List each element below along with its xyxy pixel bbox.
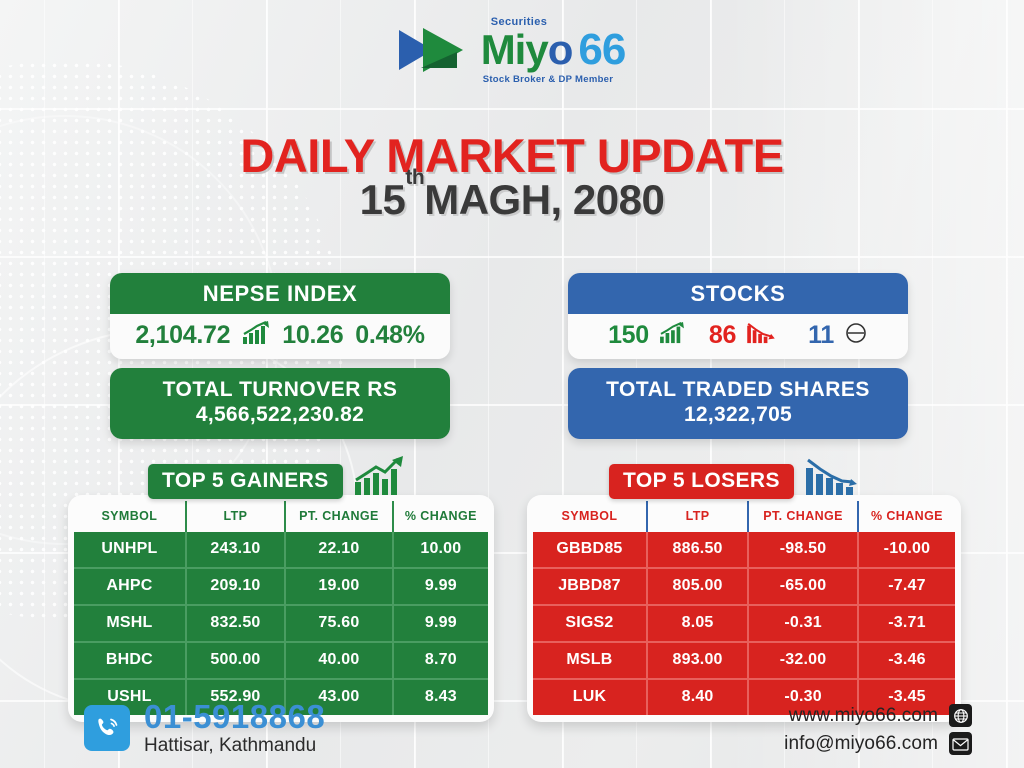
cell-pct-change: -10.00 (858, 532, 955, 568)
chart-down-icon (746, 322, 776, 349)
page-subtitle-date: 15thMAGH, 2080 (0, 176, 1024, 224)
stocks-heading: STOCKS (568, 273, 908, 314)
website-url[interactable]: www.miyo66.com (789, 705, 938, 727)
cell-symbol: MSLB (533, 642, 647, 679)
cell-pct-change: 8.70 (393, 642, 488, 679)
total-traded-shares-card: TOTAL TRADED SHARES 12,322,705 (568, 368, 908, 439)
cell-pt-change: 40.00 (285, 642, 393, 679)
nepse-index-values: 2,104.72 10.26 0.48% (110, 314, 450, 359)
cell-symbol: JBBD87 (533, 568, 647, 605)
cell-symbol: AHPC (74, 568, 186, 605)
cell-ltp: 209.10 (186, 568, 285, 605)
date-day: 15 (360, 176, 406, 223)
website-row[interactable]: www.miyo66.com (789, 704, 972, 727)
cell-pt-change: 19.00 (285, 568, 393, 605)
top-gainers-table-card: SYMBOL LTP PT. CHANGE % CHANGE UNHPL 243… (68, 495, 494, 722)
cell-symbol: SIGS2 (533, 605, 647, 642)
logo-o-text: o (548, 29, 573, 71)
stocks-values: 150 86 (568, 314, 908, 359)
page-title: DAILY MARKET UPDATE (0, 128, 1024, 183)
cell-pt-change: -0.31 (748, 605, 858, 642)
column-header-pct-change: % CHANGE (393, 501, 488, 532)
phone-number[interactable]: 01-5918868 (144, 700, 325, 733)
top-losers-banner: TOP 5 LOSERS (609, 464, 794, 499)
table-row: BHDC 500.00 40.00 8.70 (74, 642, 488, 679)
table-header-row: SYMBOL LTP PT. CHANGE % CHANGE (533, 501, 955, 532)
cell-symbol: UNHPL (74, 532, 186, 568)
date-ordinal: th (405, 166, 424, 189)
cell-ltp: 8.05 (647, 605, 748, 642)
cell-ltp: 893.00 (647, 642, 748, 679)
chart-up-icon (659, 322, 685, 349)
cell-ltp: 500.00 (186, 642, 285, 679)
cell-pct-change: 9.99 (393, 568, 488, 605)
cell-pct-change: 9.99 (393, 605, 488, 642)
column-header-pt-change: PT. CHANGE (285, 501, 393, 532)
cell-ltp: 243.10 (186, 532, 285, 568)
poster-canvas: Securities Miyo66 Stock Broker & DP Memb… (0, 0, 1024, 768)
logo-tagline: Stock Broker & DP Member (483, 75, 614, 85)
top-losers-section: TOP 5 LOSERS SYMBOL L (527, 456, 961, 722)
cell-pct-change: 8.43 (393, 679, 488, 715)
top-losers-table: SYMBOL LTP PT. CHANGE % CHANGE GBBD85 88… (533, 501, 955, 715)
cell-ltp: 832.50 (186, 605, 285, 642)
cell-pt-change: 75.60 (285, 605, 393, 642)
nepse-index-value: 2,104.72 (135, 321, 230, 350)
logo-miyo-text: Miy (481, 29, 548, 71)
bar-chart-up-icon (353, 456, 405, 501)
nepse-index-heading: NEPSE INDEX (110, 273, 450, 314)
footer-contact: 01-5918868 Hattisar, Kathmandu (84, 700, 325, 755)
table-row: MSLB 893.00 -32.00 -3.46 (533, 642, 955, 679)
top-losers-banner-row: TOP 5 LOSERS (527, 456, 961, 499)
top-gainers-section: TOP 5 GAINERS SYMBOL (68, 456, 494, 722)
nepse-point-change: 10.26 (282, 321, 343, 350)
table-header-row: SYMBOL LTP PT. CHANGE % CHANGE (74, 501, 488, 532)
brand-logo: Securities Miyo66 Stock Broker & DP Memb… (0, 26, 1024, 74)
logo-mark-icon (399, 26, 473, 74)
table-row: SIGS2 8.05 -0.31 -3.71 (533, 605, 955, 642)
bar-chart-down-icon (804, 456, 858, 501)
cell-pct-change: -3.46 (858, 642, 955, 679)
table-row: JBBD87 805.00 -65.00 -7.47 (533, 568, 955, 605)
total-traded-shares-value: 12,322,705 (568, 403, 908, 427)
circle-dash-icon (844, 321, 868, 350)
logo-66-text: 66 (578, 28, 625, 72)
globe-icon (949, 704, 972, 727)
stocks-advanced-count: 150 (608, 321, 649, 350)
column-header-ltp: LTP (186, 501, 285, 532)
cell-pt-change: -98.50 (748, 532, 858, 568)
column-header-symbol: SYMBOL (74, 501, 186, 532)
column-header-pct-change: % CHANGE (858, 501, 955, 532)
cell-pct-change: 10.00 (393, 532, 488, 568)
column-header-ltp: LTP (647, 501, 748, 532)
top-gainers-banner-row: TOP 5 GAINERS (68, 456, 494, 499)
office-address: Hattisar, Kathmandu (144, 736, 325, 755)
cell-symbol: GBBD85 (533, 532, 647, 568)
table-row: UNHPL 243.10 22.10 10.00 (74, 532, 488, 568)
total-turnover-heading: TOTAL TURNOVER RS (110, 378, 450, 402)
table-row: AHPC 209.10 19.00 9.99 (74, 568, 488, 605)
total-traded-shares-heading: TOTAL TRADED SHARES (568, 378, 908, 402)
phone-ring-icon (84, 705, 130, 751)
top-gainers-table: SYMBOL LTP PT. CHANGE % CHANGE UNHPL 243… (74, 501, 488, 715)
table-row: GBBD85 886.50 -98.50 -10.00 (533, 532, 955, 568)
stocks-declined-count: 86 (709, 321, 736, 350)
stocks-card: STOCKS 150 86 (568, 273, 908, 359)
logo-wordmark: Securities Miyo66 Stock Broker & DP Memb… (481, 28, 626, 72)
nepse-index-card: NEPSE INDEX 2,104.72 10.26 0.48% (110, 273, 450, 359)
table-row: MSHL 832.50 75.60 9.99 (74, 605, 488, 642)
email-row[interactable]: info@miyo66.com (784, 732, 972, 755)
cell-pct-change: -3.71 (858, 605, 955, 642)
top-losers-table-card: SYMBOL LTP PT. CHANGE % CHANGE GBBD85 88… (527, 495, 961, 722)
logo-securities-label: Securities (491, 17, 548, 28)
column-header-pt-change: PT. CHANGE (748, 501, 858, 532)
cell-symbol: LUK (533, 679, 647, 715)
stocks-unchanged-count: 11 (808, 321, 834, 350)
cell-pt-change: 22.10 (285, 532, 393, 568)
cell-symbol: BHDC (74, 642, 186, 679)
column-header-symbol: SYMBOL (533, 501, 647, 532)
cell-pt-change: -32.00 (748, 642, 858, 679)
total-turnover-value: 4,566,522,230.82 (110, 403, 450, 427)
cell-pct-change: -7.47 (858, 568, 955, 605)
total-turnover-card: TOTAL TURNOVER RS 4,566,522,230.82 (110, 368, 450, 439)
footer-contact-text: 01-5918868 Hattisar, Kathmandu (144, 700, 325, 755)
top-gainers-banner: TOP 5 GAINERS (148, 464, 343, 499)
envelope-icon (949, 732, 972, 755)
email-address[interactable]: info@miyo66.com (784, 733, 938, 755)
chart-up-icon (242, 321, 270, 350)
cell-ltp: 805.00 (647, 568, 748, 605)
cell-symbol: MSHL (74, 605, 186, 642)
cell-pt-change: -65.00 (748, 568, 858, 605)
nepse-percent-change: 0.48% (355, 321, 424, 350)
date-rest: MAGH, 2080 (424, 176, 664, 223)
footer-links: www.miyo66.com info@miyo66.com (784, 704, 972, 755)
cell-ltp: 886.50 (647, 532, 748, 568)
cell-ltp: 8.40 (647, 679, 748, 715)
